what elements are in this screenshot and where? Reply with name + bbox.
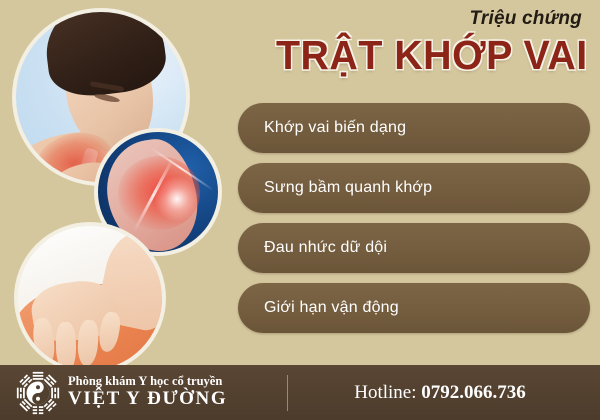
symptom-label: Khớp vai biến dạng bbox=[238, 119, 406, 137]
symptom-item: Khớp vai biến dạng bbox=[238, 103, 590, 153]
joint-flash-highlight bbox=[154, 176, 200, 222]
clinic-brand: Phòng khám Y học cổ truyền VIỆT Y ĐƯỜNG bbox=[0, 371, 287, 415]
clinic-name-block: Phòng khám Y học cổ truyền VIỆT Y ĐƯỜNG bbox=[60, 375, 227, 411]
footer-divider bbox=[287, 375, 288, 411]
symptom-item: Giới hạn vận động bbox=[238, 283, 590, 333]
clinic-name: VIỆT Y ĐƯỜNG bbox=[68, 388, 227, 410]
infographic-poster: Triệu chứng TRẬT KHỚP VAI Khớp vai biến … bbox=[0, 0, 600, 420]
hotline-number[interactable]: 0792.066.736 bbox=[421, 382, 526, 403]
symptom-label: Đau nhức dữ dội bbox=[238, 239, 387, 257]
symptom-list: Khớp vai biến dạng Sưng bầm quanh khớp Đ… bbox=[238, 103, 590, 343]
hand-gripping-shoulder-photo bbox=[14, 222, 166, 374]
symptom-item: Đau nhức dữ dội bbox=[238, 223, 590, 273]
poster-subtitle: Triệu chứng bbox=[469, 8, 582, 30]
bagua-yinyang-icon bbox=[16, 371, 60, 415]
clinic-tagline: Phòng khám Y học cổ truyền bbox=[68, 375, 227, 389]
symptom-label: Sưng bầm quanh khớp bbox=[238, 179, 432, 197]
hotline-label: Hotline: bbox=[354, 382, 416, 403]
symptom-item: Sưng bầm quanh khớp bbox=[238, 163, 590, 213]
footer-bar: Phòng khám Y học cổ truyền VIỆT Y ĐƯỜNG … bbox=[0, 365, 600, 420]
poster-title: TRẬT KHỚP VAI bbox=[276, 32, 588, 79]
symptom-label: Giới hạn vận động bbox=[238, 299, 399, 317]
hotline-block[interactable]: Hotline: 0792.066.736 bbox=[288, 382, 600, 404]
